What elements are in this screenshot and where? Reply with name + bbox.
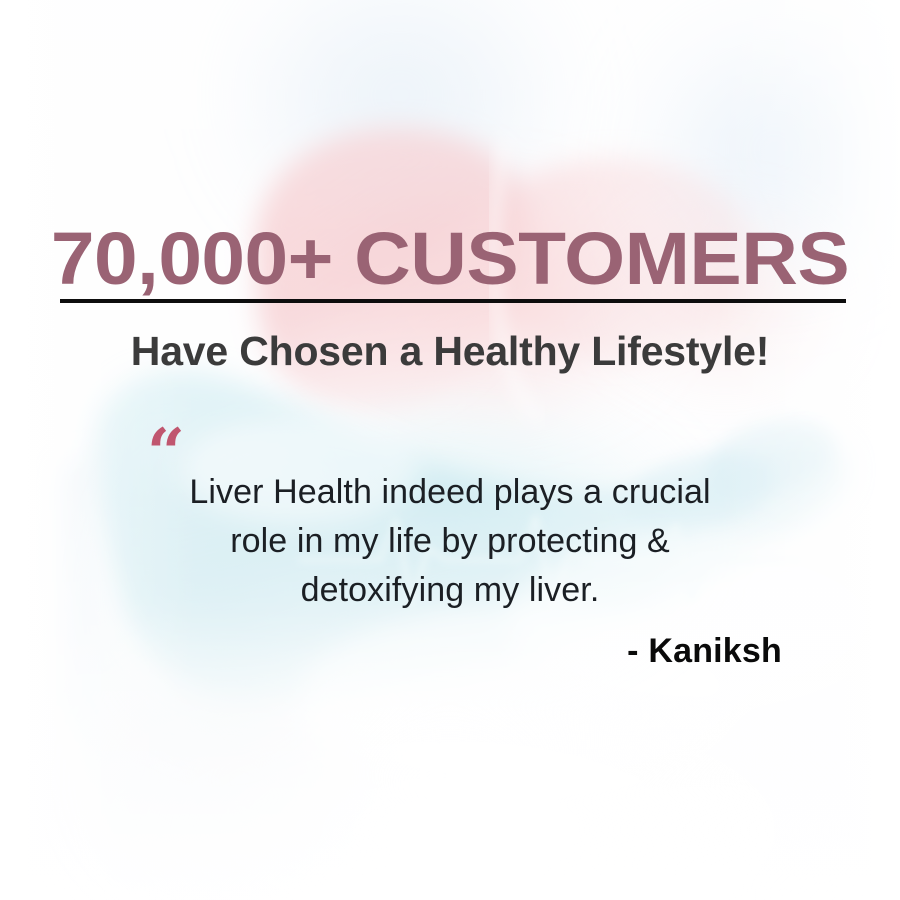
quote-line: detoxifying my liver. [140,566,760,615]
quote-line: Liver Health indeed plays a crucial [140,468,760,517]
headline-divider-rule [60,299,846,303]
subheadline: Have Chosen a Healthy Lifestyle! [0,326,900,376]
quote-line: role in my life by protecting & [140,517,760,566]
card-content: 70,000+ CUSTOMERS Have Chosen a Healthy … [0,0,900,900]
testimonial-quote: Liver Health indeed plays a crucial role… [140,468,760,615]
testimonial-card: 70,000+ CUSTOMERS Have Chosen a Healthy … [0,0,900,900]
testimonial-attribution: - Kaniksh [0,630,782,672]
customer-count-headline: 70,000+ CUSTOMERS [0,220,900,298]
